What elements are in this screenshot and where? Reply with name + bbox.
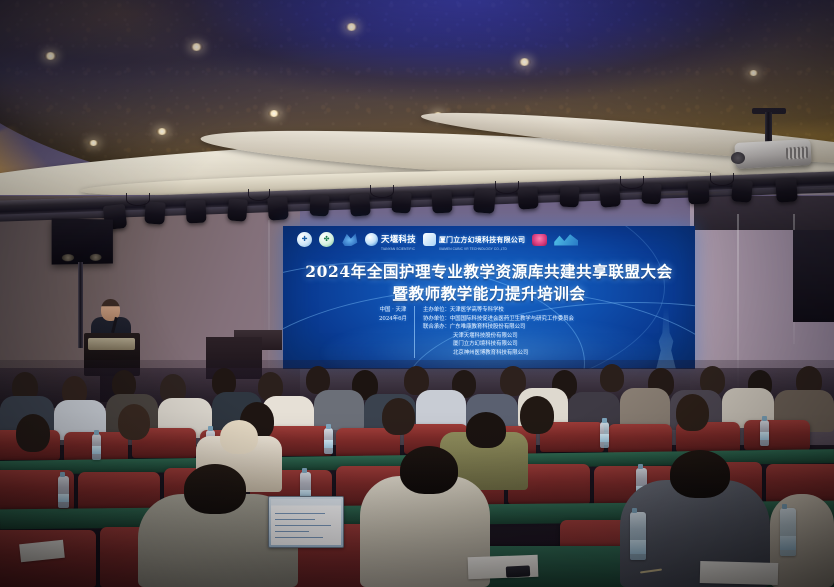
laptop-ui-line [275,513,325,514]
conference-title-line1: 2024年全国护理专业教学资源库共建共享联盟大会 [283,260,695,282]
undertaker-row-2: 天津天堰科技股份有限公司 [423,332,574,341]
ceiling-spotlight [518,58,531,66]
water-bottle [780,508,796,556]
host-row: 主办单位：天津医学高等专科学校 [423,306,574,315]
stage-light [391,191,411,213]
bottle-label [600,434,609,442]
seat-back [744,420,810,450]
laptop-screen [268,496,344,548]
seat-back [78,472,160,512]
conference-hall-photo: ✚ ✤ 天堰科技 TIANYAN SCIENTIFIC 厦门立方幻境科技有限公司… [0,0,834,587]
host-value: 天津医学高等专科学校 [450,307,504,313]
undertaker-row-1: 联合承办：广东唯康教育科技股份有限公司 [423,323,574,332]
light-cable [710,173,734,186]
wall-mounted-speaker [52,218,113,264]
projector-vent [786,146,809,159]
light-cable [620,176,644,189]
bottle-label [630,540,646,554]
stage-light [687,180,709,204]
attendee-body [314,390,364,430]
conference-location: 中国 · 天津 [379,306,407,315]
stage-light [227,198,248,222]
conference-meta-left: 中国 · 天津 2024年6月 [379,306,415,358]
stage-light [517,186,538,209]
stage-light [775,177,798,202]
ceiling-spotlight [190,43,203,51]
ceiling-spotlight [268,110,280,117]
attendee-head [600,364,624,392]
ceiling-spotlight [156,128,168,135]
speaker-cone [90,254,102,261]
stage-light [185,199,206,223]
worldskills-logo [554,234,578,246]
bottle-label [92,446,101,454]
stage-light [349,193,371,217]
attendee-body [620,388,670,428]
stage-light [431,189,452,213]
water-bottle [58,476,69,508]
conference-meta-block: 中国 · 天津 2024年6月 主办单位：天津医学高等专科学校 协办单位：中国国… [379,306,574,358]
attendee-head [520,396,554,434]
undertaker-row-4: 北京神州医博教育科技有限公司 [423,349,574,358]
water-bottle [324,428,333,454]
stage-light [731,179,753,203]
laptop-ui-line [275,525,331,526]
ceiling-spotlight [44,52,57,60]
stage-light [641,182,661,204]
host-label: 主办单位： [423,307,450,313]
light-cable [495,181,519,194]
bottle-label [760,432,769,440]
led-screen: ✚ ✤ 天堰科技 TIANYAN SCIENTIFIC 厦门立方幻境科技有限公司… [283,226,695,369]
ceiling-spotlight [345,23,358,31]
pink-badge-logo [532,234,547,246]
undertaker-value-1: 广东唯康教育科技股份有限公司 [450,324,525,330]
tianyan-icon [365,233,378,246]
laptop-ui-line [275,519,315,520]
attendee-head [118,404,150,440]
association-emblem-logo: ✤ [319,232,334,247]
water-bottle [92,434,101,460]
seat-back [608,424,672,454]
sports-swirl-logo [341,233,358,247]
water-bottle [630,512,646,560]
undertaker-row-3: 厦门立方幻境科技有限公司 [423,340,574,349]
ceiling-spotlight [748,70,759,76]
coorganizer-row: 协办单位：中国国际科技促进会医药卫生教学与研究工作委员会 [423,315,574,324]
coorganizer-value: 中国国际科技促进会医药卫生教学与研究工作委员会 [450,316,574,322]
notepad [700,561,779,585]
cubic-vr-icon [423,233,436,246]
undertaker-label: 联合承办： [423,324,450,330]
attendee-head [400,446,458,494]
stage-light [559,186,579,208]
laptop-ui-line [275,531,309,532]
cubic-vr-logo-text: 厦门立方幻境科技有限公司 [439,237,525,244]
cubic-vr-logo: 厦门立方幻境科技有限公司 XIAMEN CUBIC VR TECHNOLOGY … [423,229,525,251]
attendee-head [220,420,258,454]
laptop-ui-line [275,537,323,538]
conference-title-line2: 暨教师教学能力提升培训会 [283,282,695,304]
right-wall-upper-panel [694,196,834,230]
attendee-head [16,414,50,452]
ceiling-spotlight [88,140,99,146]
school-emblem-logo: ✚ [297,232,312,247]
light-cable [126,193,150,206]
stage-light [267,196,289,220]
podium-front-plaque [88,338,135,350]
bottle-label [58,494,69,502]
speaker-cone [62,254,74,261]
stage-light [599,183,621,208]
stage-light [473,188,496,214]
bottle-label [324,440,333,448]
stage-light [309,195,329,217]
right-wall-speaker [793,230,834,322]
water-bottle [760,420,769,446]
attendee-head [382,398,415,435]
tianyan-tech-logo: 天堰科技 TIANYAN SCIENTIFIC [365,229,416,251]
attendee-head [676,394,709,431]
bottle-label [780,536,796,550]
screen-logo-bar: ✚ ✤ 天堰科技 TIANYAN SCIENTIFIC 厦门立方幻境科技有限公司… [283,229,695,250]
attendee-head [670,450,730,498]
light-cable [248,189,270,201]
coorganizer-label: 协办单位： [423,316,450,322]
attendee-head [184,464,246,514]
conference-date: 2024年6月 [379,315,407,324]
tianyan-logo-subtext: TIANYAN SCIENTIFIC [381,247,416,251]
stage-light [144,201,165,224]
speaker-stand-pole [78,262,83,348]
tianyan-logo-text: 天堰科技 [381,234,416,244]
light-cable [370,185,394,198]
attendee-head [466,412,506,448]
water-bottle [600,422,609,448]
phone [506,565,531,577]
conference-meta-right: 主办单位：天津医学高等专科学校 协办单位：中国国际科技促进会医药卫生教学与研究工… [423,306,574,358]
laptop-screen-content [271,499,341,545]
cubic-vr-logo-subtext: XIAMEN CUBIC VR TECHNOLOGY CO.,LTD [439,247,525,251]
